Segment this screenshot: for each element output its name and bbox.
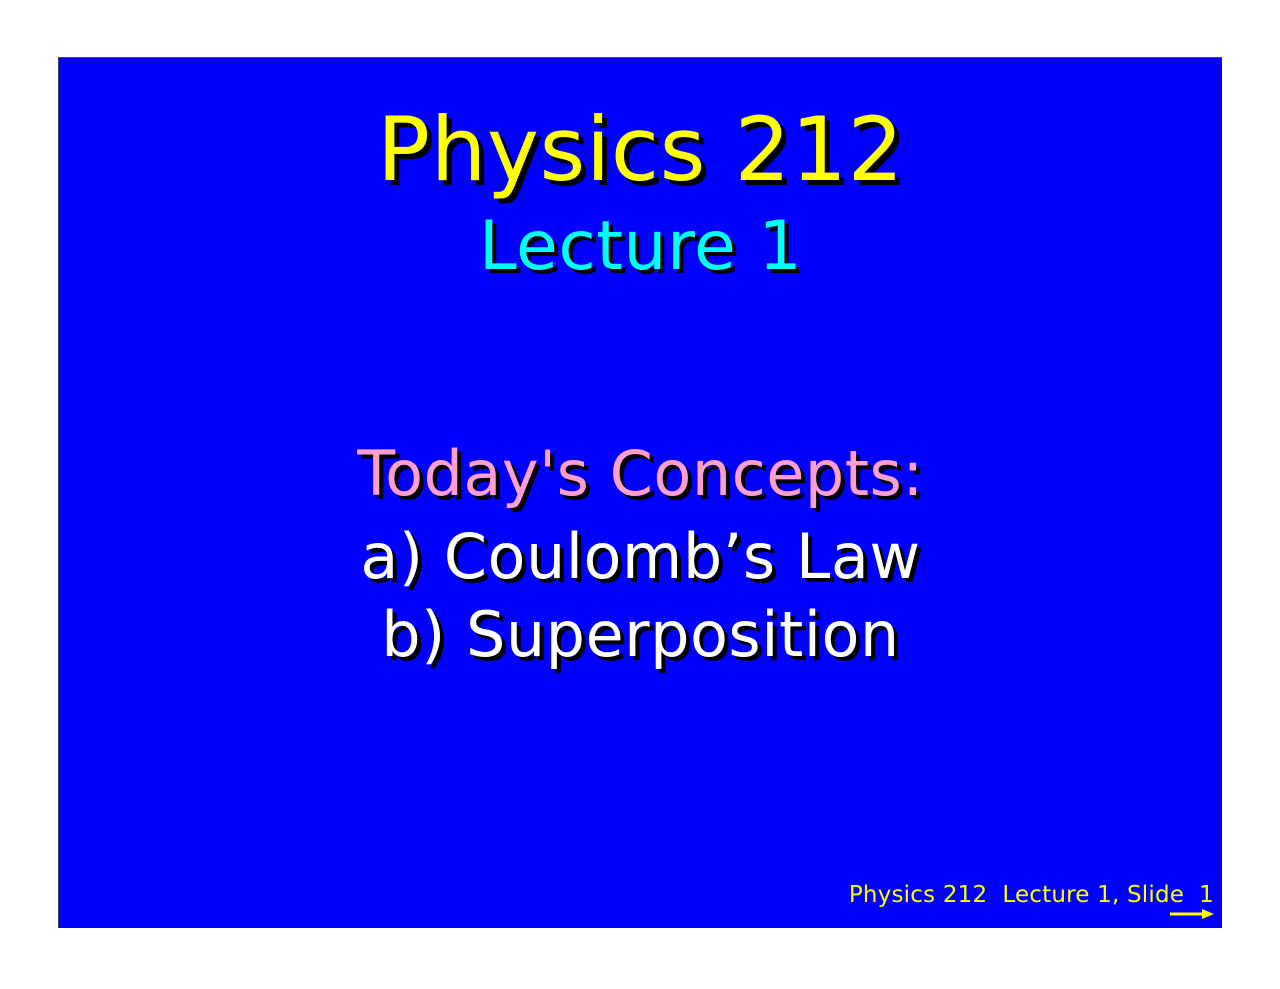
slide-footer: Physics 212 Lecture 1, Slide 1 bbox=[849, 884, 1214, 920]
slide-title-main: Physics 212 bbox=[59, 106, 1222, 194]
concepts-heading: Today's Concepts: bbox=[59, 443, 1222, 505]
slide-canvas: Physics 212 Lecture 1 Today's Concepts: … bbox=[58, 57, 1222, 928]
footer-label: Physics 212 Lecture 1, Slide 1 bbox=[849, 884, 1214, 907]
slide-title-subtitle: Lecture 1 bbox=[59, 213, 1222, 281]
concept-item-a: a) Coulomb’s Law bbox=[59, 526, 1222, 588]
concept-item-b: b) Superposition bbox=[59, 604, 1222, 666]
arrow-right-icon[interactable] bbox=[1170, 908, 1214, 920]
